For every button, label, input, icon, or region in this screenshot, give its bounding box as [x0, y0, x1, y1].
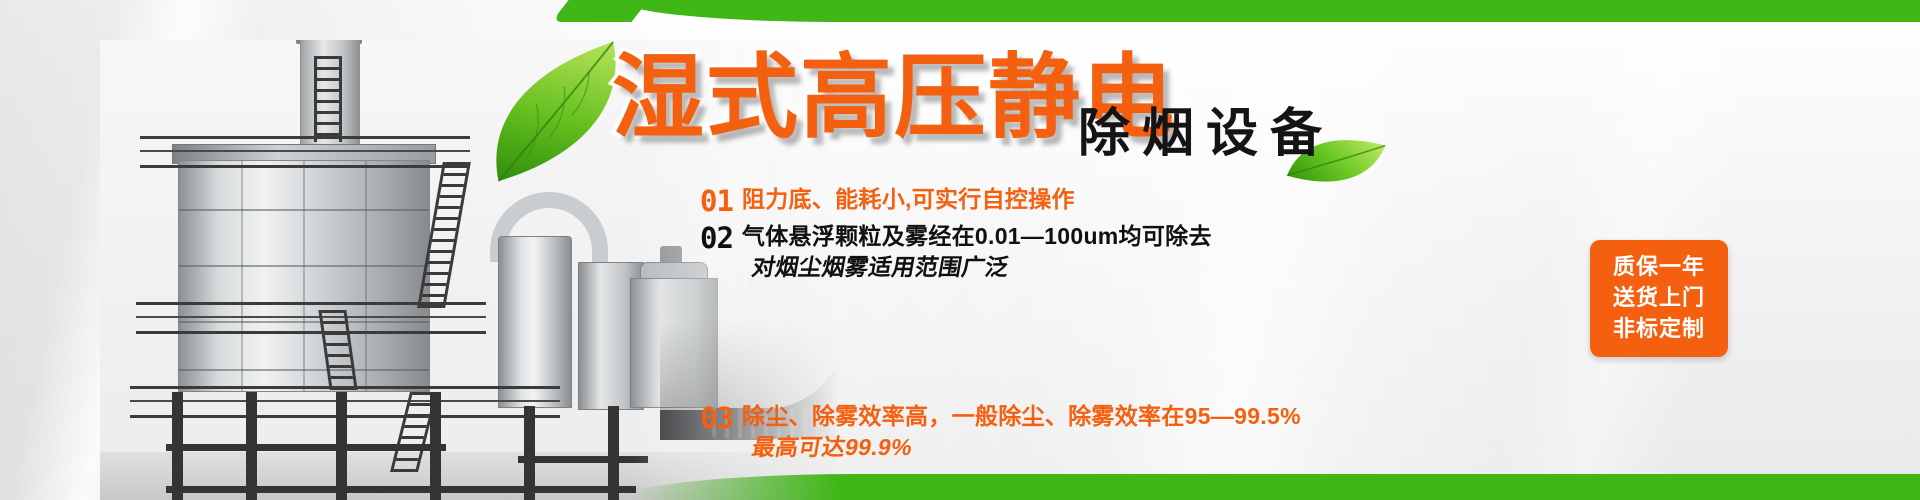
feature-item-01: 01 阻力底、能耗小,可实行自控操作 [700, 184, 1320, 218]
page-subtitle: 除烟设备 [1078, 108, 1334, 160]
scrubber-cylinder [498, 236, 572, 408]
feature-text-line1: 阻力底、能耗小,可实行自控操作 [742, 186, 1075, 212]
promo-banner: 湿式高压静电 除烟设备 01 阻力底、能耗小,可实行自控操作 02 气体悬浮颗粒… [0, 0, 1920, 500]
access-ladder [314, 56, 342, 142]
dust-collector-tower [178, 160, 430, 392]
feature-number: 01 [700, 184, 733, 218]
feature-item-02: 02 气体悬浮颗粒及雾经在0.01—100um均可除去 对烟尘烟雾适用范围广泛 [700, 221, 1320, 398]
support-crossbeam [166, 444, 446, 451]
feature-text-line2: 对烟尘烟雾适用范围广泛 [729, 252, 1225, 398]
support-crossbeam [166, 486, 636, 493]
tower-seam [303, 161, 305, 391]
badge-line-3: 非标定制 [1600, 313, 1718, 344]
feature-number: 02 [700, 221, 733, 255]
feature-text: 气体悬浮颗粒及雾经在0.01—100um均可除去 对烟尘烟雾适用范围广泛 [742, 221, 1212, 398]
feature-text: 除尘、除雾效率高，一般除尘、除雾效率在95—99.5% 最高可达99.9% [742, 401, 1301, 500]
feature-item-03: 03 除尘、除雾效率高，一般除尘、除雾效率在95—99.5% 最高可达99.9% [700, 401, 1320, 500]
feature-number: 03 [700, 401, 733, 435]
feature-text-line2: 最高可达99.9% [729, 432, 1314, 500]
platform-railing [140, 136, 470, 168]
badge-line-2: 送货上门 [1600, 282, 1718, 313]
feature-text-line1: 除尘、除雾效率高，一般除尘、除雾效率在95—99.5% [742, 403, 1301, 429]
badge-line-1: 质保一年 [1600, 251, 1718, 282]
tower-seam [241, 161, 243, 391]
green-accent-bar-top [620, 0, 1920, 22]
feature-list: 01 阻力底、能耗小,可实行自控操作 02 气体悬浮颗粒及雾经在0.01—100… [700, 184, 1320, 500]
feature-text-line1: 气体悬浮颗粒及雾经在0.01—100um均可除去 [742, 223, 1212, 249]
tower-seam [365, 161, 367, 391]
support-crossbeam [518, 456, 648, 463]
service-guarantee-badge: 质保一年 送货上门 非标定制 [1590, 240, 1728, 357]
feature-text: 阻力底、能耗小,可实行自控操作 [742, 184, 1075, 215]
